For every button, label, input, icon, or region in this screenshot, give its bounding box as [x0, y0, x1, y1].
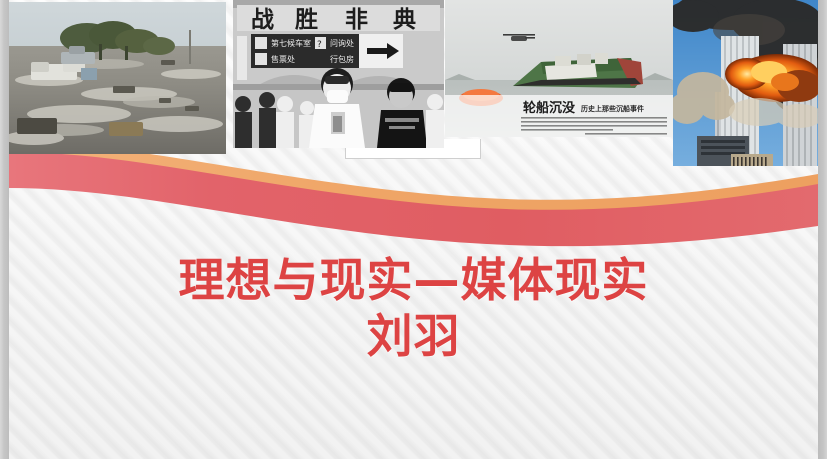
svg-text:战: 战 [251, 7, 274, 33]
world-trade-center-photo[interactable] [673, 0, 818, 166]
tsunami-photo[interactable] [9, 2, 226, 154]
shipwreck-photo[interactable]: 轮船沉没 历史上那些沉船事件 [445, 0, 673, 137]
svg-text:历史上那些沉船事件: 历史上那些沉船事件 [581, 104, 644, 113]
presentation-slide: 战 胜 非 典 第七候车室 售票处 ? 问询处 行包房 [0, 0, 827, 459]
svg-text:行包房: 行包房 [330, 54, 354, 64]
slide-title-block[interactable]: 理想与现实—媒体现实 刘羽 [18, 252, 809, 364]
slide-right-edge [818, 0, 827, 459]
svg-text:轮船沉没: 轮船沉没 [523, 100, 576, 116]
svg-text:问询处: 问询处 [330, 38, 354, 48]
slide-background: 战 胜 非 典 第七候车室 售票处 ? 问询处 行包房 [9, 0, 818, 459]
slide-left-edge [0, 0, 9, 459]
svg-text:第七候车室: 第七候车室 [271, 38, 311, 48]
page-title: 理想与现实—媒体现实 [18, 252, 809, 308]
author-name: 刘羽 [18, 308, 809, 364]
svg-text:?: ? [317, 40, 322, 50]
svg-text:胜: 胜 [295, 7, 318, 33]
svg-text:典: 典 [393, 6, 416, 33]
svg-text:非: 非 [345, 7, 368, 33]
sars-photo[interactable]: 战 胜 非 典 第七候车室 售票处 ? 问询处 行包房 [233, 0, 444, 148]
svg-text:售票处: 售票处 [271, 54, 295, 64]
